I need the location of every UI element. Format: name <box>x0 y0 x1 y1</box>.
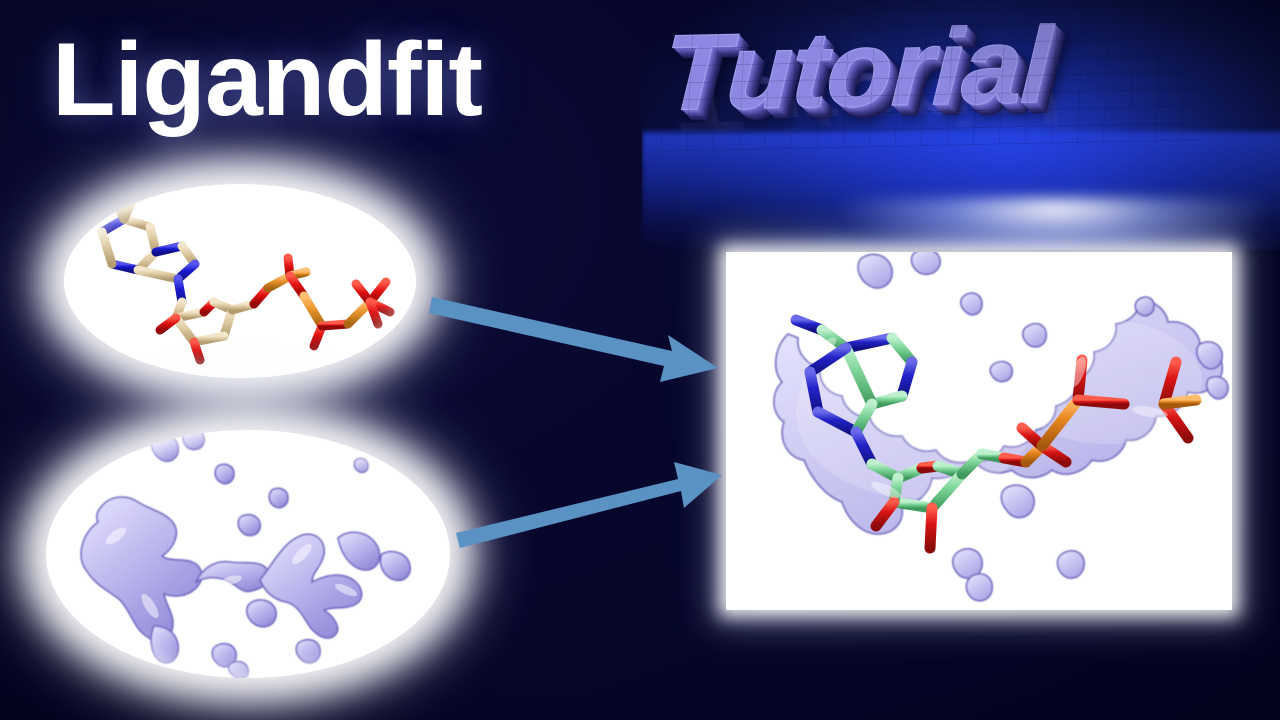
density-map-thumbnail <box>46 430 450 678</box>
page-title: Ligandfit <box>52 26 482 135</box>
atp-stick-model <box>64 184 416 378</box>
result-panel <box>726 252 1232 610</box>
ligand-model-thumbnail <box>64 184 416 378</box>
fitted-ligand-in-density <box>726 252 1232 610</box>
slide-canvas: Tutorial Tutorial Ligandfit <box>0 0 1280 720</box>
electron-density-isosurface <box>46 430 450 678</box>
